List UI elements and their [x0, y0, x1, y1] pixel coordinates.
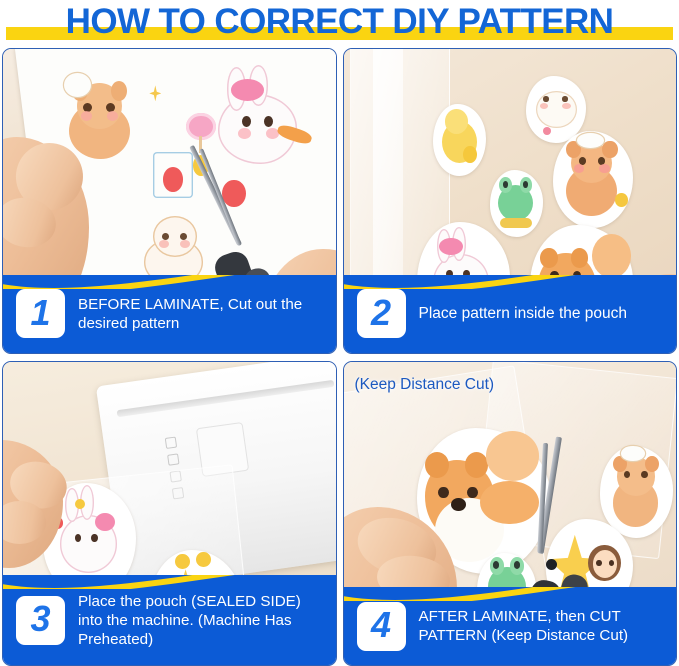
- keep-distance-note: (Keep Distance Cut): [355, 376, 495, 394]
- yellow-wave-divider: [3, 275, 336, 289]
- step-1-caption-bar: 1 BEFORE LAMINATE, Cut out the desired p…: [3, 275, 336, 353]
- step-4-caption-bar: 4 AFTER LAMINATE, then CUT PATTERN (Keep…: [344, 587, 677, 665]
- strawberry-sticker: [163, 167, 183, 191]
- orange-bear-sticker: [553, 131, 633, 228]
- yellow-wave-divider-3: [3, 575, 336, 589]
- page-header: HOW TO CORRECT DIY PATTERN: [0, 0, 679, 48]
- frog-sticker: [490, 170, 543, 237]
- step-3-caption-bar: 3 Place the pouch (SEALED SIDE) into the…: [3, 575, 336, 665]
- step-number-badge-3: 3: [16, 596, 65, 645]
- step-caption-1: BEFORE LAMINATE, Cut out the desired pat…: [78, 295, 302, 333]
- bear-sticker-2: [600, 446, 673, 537]
- step-number-badge-4: 4: [357, 602, 406, 651]
- strawberry-sticker-2: [222, 180, 245, 207]
- step-number-badge-1: 1: [16, 289, 65, 338]
- indicator-icon-1: [165, 437, 177, 449]
- step-panel-2: 2 Place pattern inside the pouch: [343, 48, 678, 354]
- yellow-wave-divider-2: [344, 275, 677, 289]
- step-caption-3: Place the pouch (SEALED SIDE) into the m…: [78, 592, 301, 649]
- steps-grid: 1 BEFORE LAMINATE, Cut out the desired p…: [2, 48, 677, 666]
- step-caption-2: Place pattern inside the pouch: [419, 304, 628, 323]
- step-panel-3: 3 Place the pouch (SEALED SIDE) into the…: [2, 361, 337, 666]
- page-title: HOW TO CORRECT DIY PATTERN: [0, 0, 679, 44]
- step-panel-1: 1 BEFORE LAMINATE, Cut out the desired p…: [2, 48, 337, 354]
- yellow-wave-divider-4: [344, 587, 677, 601]
- indicator-icon-2: [167, 454, 179, 466]
- step-panel-4: (Keep Distance Cut) 4 AFTER LAMINATE, th…: [343, 361, 678, 666]
- step-number-badge-2: 2: [357, 289, 406, 338]
- bunny-sticker: [209, 67, 319, 188]
- duck-sticker: [433, 104, 486, 177]
- step-2-caption-bar: 2 Place pattern inside the pouch: [344, 275, 677, 353]
- step-caption-4: AFTER LAMINATE, then CUT PATTERN (Keep D…: [419, 607, 629, 645]
